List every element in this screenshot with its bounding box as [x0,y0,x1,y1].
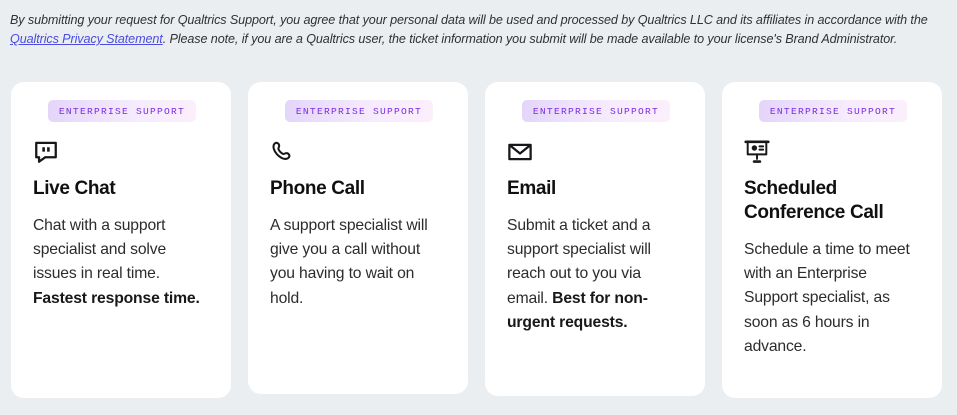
legal-disclaimer: By submitting your request for Qualtrics… [10,11,940,49]
card-description: Schedule a time to meet with an Enterpri… [744,238,922,359]
card-title: Live Chat [33,177,115,201]
card-description: Chat with a support specialist and solve… [33,214,211,311]
card-description: A support specialist will give you a cal… [270,214,448,311]
status-badge: ENTERPRISE SUPPORT [285,100,433,122]
card-title: Email [507,177,556,201]
disclaimer-text-part-1: By submitting your request for Qualtrics… [10,13,928,27]
support-card-email[interactable]: ENTERPRISE SUPPORT Email Submit a ticket… [485,82,705,396]
phone-icon [270,139,296,165]
support-options-card-row: ENTERPRISE SUPPORT Live Chat Chat with a… [11,82,942,398]
support-card-phone-call[interactable]: ENTERPRISE SUPPORT Phone Call A support … [248,82,468,394]
card-description: Submit a ticket and a support specialist… [507,214,685,335]
chat-bubble-icon [33,139,59,165]
card-description-bold: Fastest response time. [33,290,200,307]
card-description-normal: Schedule a time to meet with an Enterpri… [744,241,910,355]
envelope-icon [507,139,533,165]
support-card-scheduled-conference-call[interactable]: ENTERPRISE SUPPORT Scheduled Conference … [722,82,942,398]
disclaimer-text-part-2: . Please note, if you are a Qualtrics us… [163,32,897,46]
status-badge: ENTERPRISE SUPPORT [759,100,907,122]
card-description-normal: Chat with a support specialist and solve… [33,217,166,282]
card-title: Scheduled Conference Call [744,177,922,225]
status-badge: ENTERPRISE SUPPORT [522,100,670,122]
card-description-normal: A support specialist will give you a cal… [270,217,428,307]
presentation-screen-icon [744,139,770,165]
qualtrics-privacy-statement-link[interactable]: Qualtrics Privacy Statement [10,32,163,46]
status-badge: ENTERPRISE SUPPORT [48,100,196,122]
support-card-live-chat[interactable]: ENTERPRISE SUPPORT Live Chat Chat with a… [11,82,231,398]
card-title: Phone Call [270,177,365,201]
